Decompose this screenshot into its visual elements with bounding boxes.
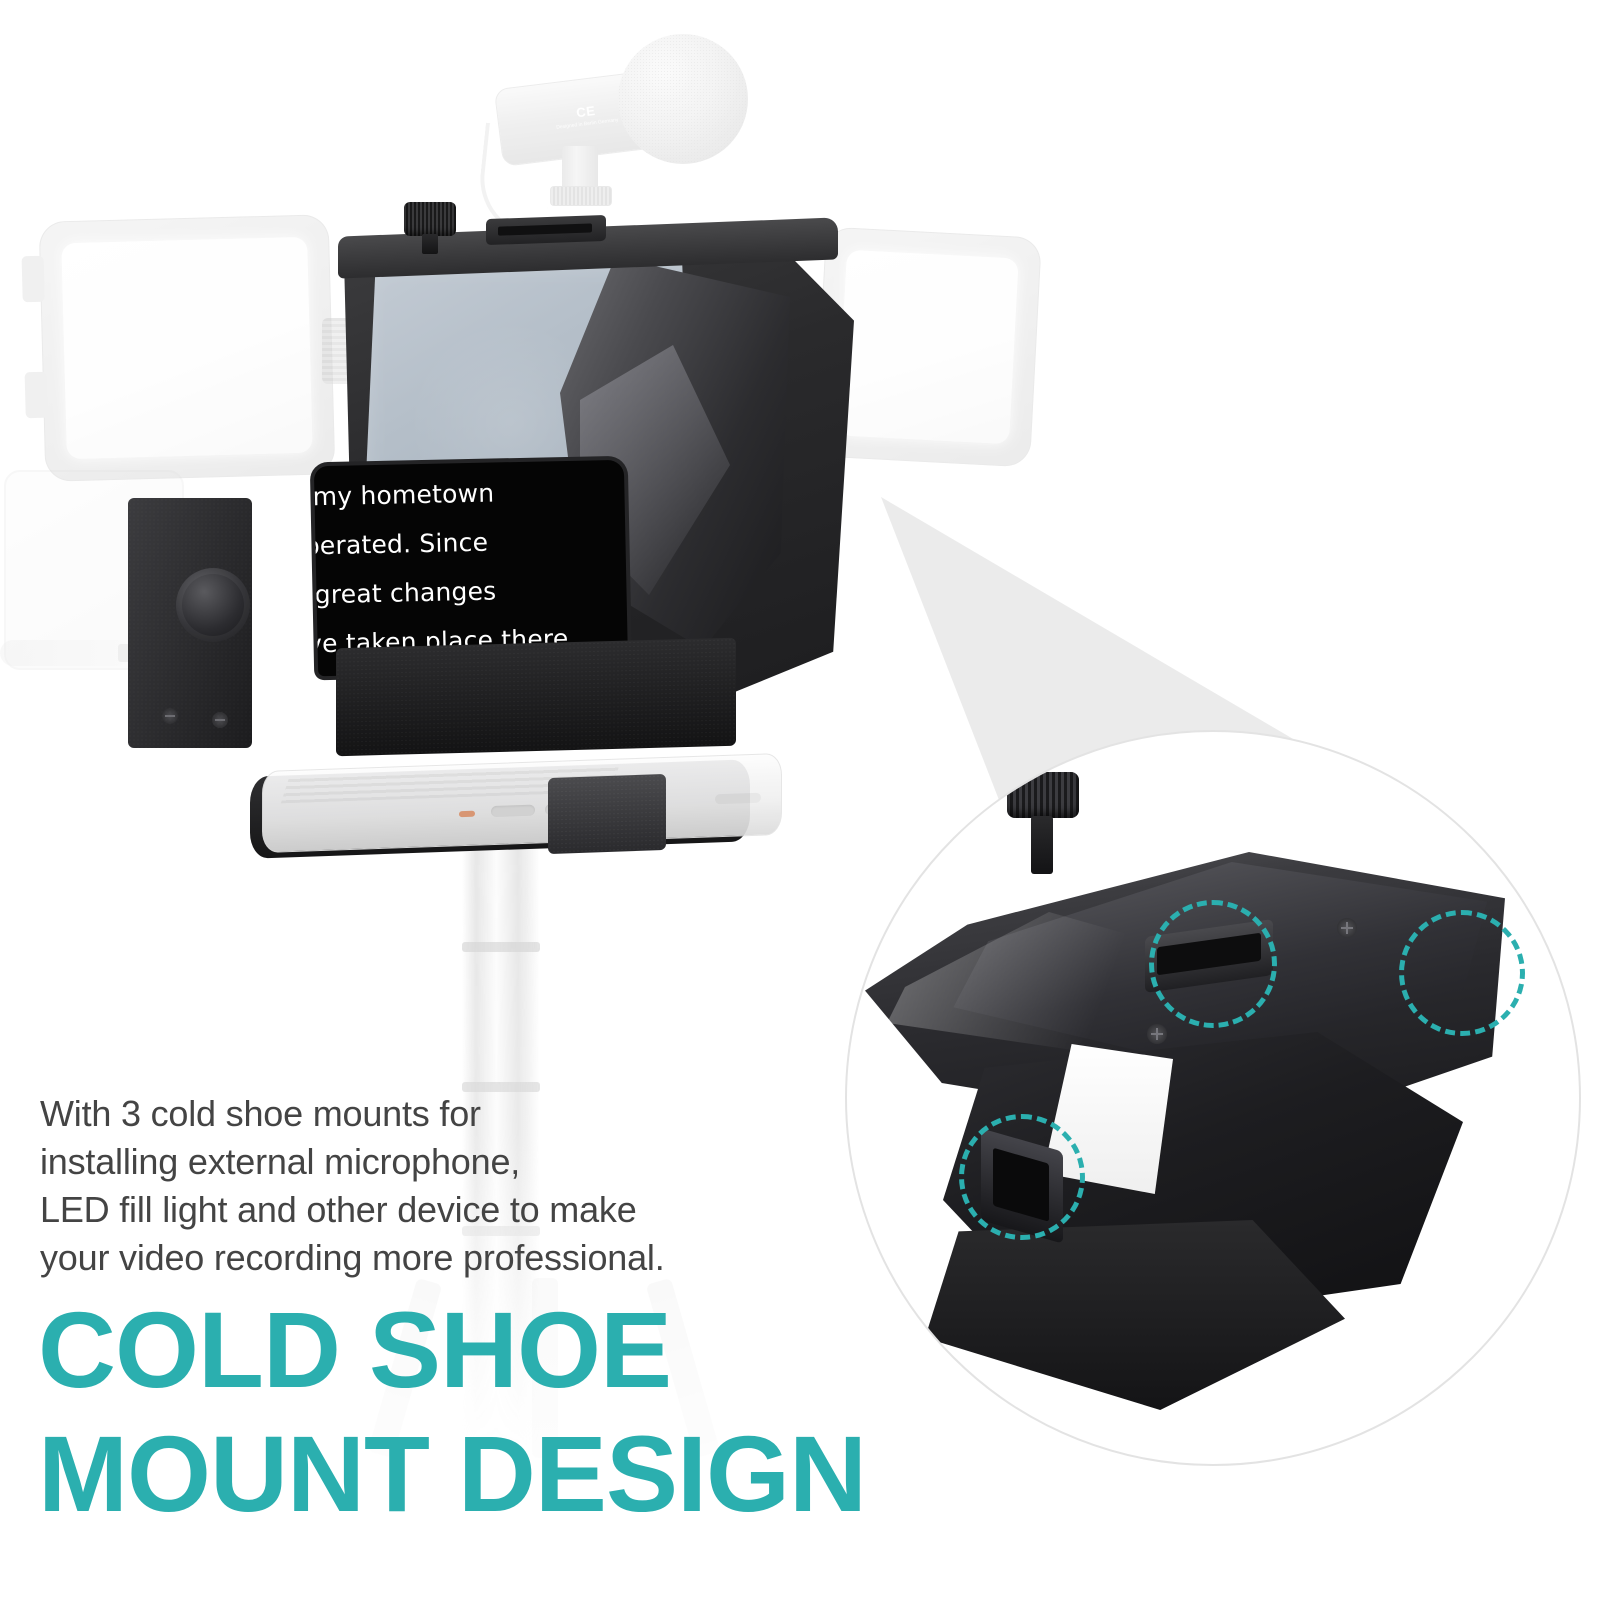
teleprompter-lower-shroud [336, 638, 736, 756]
led-bracket-ear-top-left [22, 256, 45, 303]
body-copy-line-4: your video recording more professional. [40, 1234, 840, 1282]
body-copy-line-3: LED fill light and other device to make [40, 1186, 840, 1234]
led-bracket-ear-bottom-left [25, 372, 48, 419]
cold-shoe-mount-top [486, 215, 606, 245]
body-copy-line-2: installing external microphone, [40, 1138, 840, 1186]
phone-clamp-bracket [548, 774, 666, 854]
phone-volume-up-button [491, 805, 535, 818]
highlight-circle-right-shoe [1399, 910, 1525, 1036]
detail-screw-right [1337, 918, 1357, 938]
headline-line-2: MOUNT DESIGN [38, 1420, 1038, 1528]
highlight-circle-top-shoe [1149, 900, 1277, 1028]
bracket-screw-left [162, 708, 178, 724]
detail-thumbscrew-knob [1007, 772, 1079, 818]
phone-charging-port [715, 793, 761, 805]
microphone-windscreen [618, 34, 748, 164]
bracket-screw-right [212, 712, 228, 728]
detail-screw-left [1147, 1024, 1167, 1044]
led-diffuser-right [837, 250, 1018, 445]
script-line-2: liberated. Since [314, 514, 628, 571]
tilt-adjust-knob [176, 568, 250, 642]
body-copy-line-1: With 3 cold shoe mounts for [40, 1090, 840, 1138]
headline-line-1: COLD SHOE [38, 1289, 671, 1410]
script-line-3: n great changes [314, 563, 628, 620]
highlight-circle-side-shoe [959, 1114, 1085, 1240]
power-cable-plug [0, 640, 130, 666]
body-copy: With 3 cold shoe mounts for installing e… [40, 1090, 840, 1282]
tension-knob-top [404, 202, 456, 236]
teleprompter-unit: 9 my hometown liberated. Since n great c… [250, 195, 860, 725]
product-marketing-canvas: CE Designed in Berlin Germany [0, 0, 1601, 1601]
script-line-1: 9 my hometown [314, 465, 628, 522]
phone-mute-switch [459, 811, 475, 818]
page-headline: COLD SHOE MOUNT DESIGN [38, 1296, 1038, 1528]
